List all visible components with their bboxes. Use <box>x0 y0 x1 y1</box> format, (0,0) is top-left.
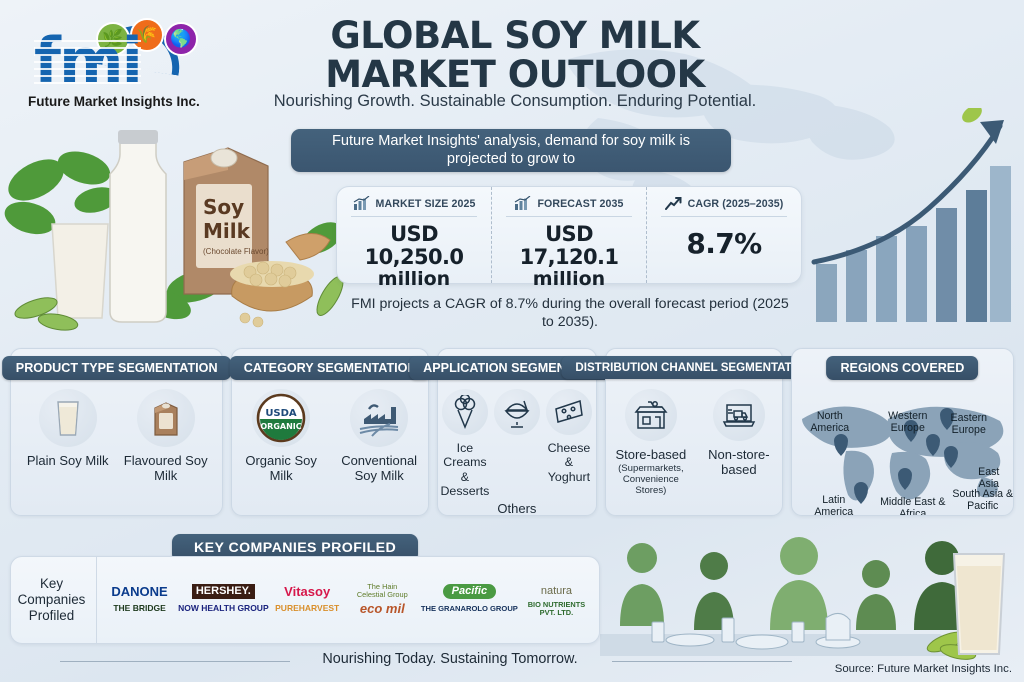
company-logo-grid: DANONE HERSHEY. Vitasoy The Hain Celesti… <box>97 580 599 620</box>
factory-farm-icon <box>350 389 408 447</box>
segment-item-others[interactable] <box>493 389 541 499</box>
growth-bar-chart-svg <box>804 108 1016 330</box>
big-glass-svg <box>948 550 1010 658</box>
segment-item-label: Organic Soy Milk <box>238 453 324 483</box>
company-logo-danone[interactable]: DANONE <box>111 585 167 598</box>
segment-title: REGIONS COVERED <box>826 356 978 380</box>
segment-item-cheese-yoghurt[interactable]: Cheese & Yoghurt <box>543 389 595 499</box>
chart-bars <box>816 166 1011 322</box>
segment-title: CATEGORY SEGMENTATION <box>230 356 431 380</box>
stat-value: USD 10,250.0 <box>343 223 485 268</box>
hero-illustration-svg: Soy Milk (Chocolate Flavor) <box>0 118 350 340</box>
stat-value: USD 17,120.1 <box>498 223 640 268</box>
segment-item-ice-creams-desserts[interactable]: Ice Creams & Desserts <box>439 389 491 499</box>
key-metrics-card: MARKET SIZE 2025 USD 10,250.0 million FO… <box>336 186 802 284</box>
company-logo-hain-celestial[interactable]: The Hain Celestial Group <box>352 583 412 599</box>
svg-text:Milk: Milk <box>203 219 251 243</box>
segment-distribution-channel: DISTRIBUTION CHANNEL SEGMENTATION Store-… <box>605 348 783 516</box>
page-title: GLOBAL SOY MILK MARKET OUTLOOK <box>270 16 760 94</box>
milk-carton-icon <box>137 389 195 447</box>
region-label-latin-america: Latin America <box>806 495 862 516</box>
page-subtitle: Nourishing Growth. Sustainable Consumpti… <box>230 92 800 111</box>
logo-tagline: Future Market Insights Inc. <box>28 94 200 109</box>
segment-item-label: Non-store-based <box>698 447 780 477</box>
company-logo-now-health-group[interactable]: NOW HEALTH GROUP <box>178 604 269 613</box>
footer-divider-left <box>60 661 290 662</box>
segment-item-conventional-soy-milk[interactable]: Conventional Soy Milk <box>336 389 422 483</box>
source-note: Source: Future Market Insights Inc. <box>835 663 1012 675</box>
segment-extra-label: Others <box>438 501 596 516</box>
segment-item-sublabel: (Supermarkets, Convenience Stores) <box>608 463 694 496</box>
infographic-page: 🌿 🌾 🌎 fmi Future Market Insights Inc. GL… <box>0 0 1024 682</box>
region-label-western-europe: Western Europe <box>880 411 936 435</box>
segment-title: DISTRIBUTION CHANNEL SEGMENTATION <box>561 356 826 379</box>
stat-unit: million <box>498 268 640 290</box>
segment-title: PRODUCT TYPE SEGMENTATION <box>2 356 232 380</box>
company-logo-granarolo[interactable]: THE GRANAROLO GROUP <box>421 605 518 613</box>
milk-glass-icon <box>39 389 97 447</box>
footer-divider-right <box>612 661 792 662</box>
bar-chart-icon <box>353 196 370 211</box>
globe-icon: 🌎 <box>164 22 198 56</box>
stat-forecast: FORECAST 2035 USD 17,120.1 million <box>491 187 646 283</box>
ice-cream-cone-icon <box>442 389 488 435</box>
stat-unit: million <box>343 268 485 290</box>
page-title-line2: MARKET OUTLOOK <box>270 55 760 94</box>
company-logo-vitasoy[interactable]: Vitasoy <box>284 585 330 598</box>
segment-item-label: Store-based <box>608 447 694 462</box>
segment-category: CATEGORY SEGMENTATION USDA ORGANIC Organ… <box>231 348 429 516</box>
footer-tagline: Nourishing Today. Sustaining Tomorrow. <box>300 651 600 667</box>
company-logo-pacific-foods[interactable]: Pacific <box>443 584 496 599</box>
segment-item-organic-soy-milk[interactable]: USDA ORGANIC Organic Soy Milk <box>238 389 324 483</box>
segment-item-store-based[interactable]: Store-based (Supermarkets, Convenience S… <box>608 389 694 496</box>
fmi-logo: 🌿 🌾 🌎 fmi Future Market Insights Inc. <box>26 10 216 110</box>
growth-chart-illustration <box>804 108 1016 330</box>
key-companies-left-label: Key Companies Profiled <box>11 557 97 643</box>
cheese-wedge-icon <box>546 389 592 435</box>
segment-item-label: Cheese & Yoghurt <box>543 441 595 484</box>
soy-milk-glass-illustration <box>948 550 1010 658</box>
segment-item-label: Ice Creams & Desserts <box>439 441 491 499</box>
segment-regions-covered: REGIONS COVERED <box>791 348 1014 516</box>
storefront-icon <box>625 389 677 441</box>
projection-banner: Future Market Insights' analysis, demand… <box>291 129 731 172</box>
cagr-note: FMI projects a CAGR of 8.7% during the o… <box>350 295 790 332</box>
laptop-delivery-icon <box>713 389 765 441</box>
trend-arrow-icon <box>665 196 682 211</box>
stat-cagr: CAGR (2025–2035) 8.7% <box>646 187 801 283</box>
stat-market-size: MARKET SIZE 2025 USD 10,250.0 million <box>337 187 491 283</box>
bar-chart-icon <box>514 196 531 211</box>
soy-milk-product-illustration: Soy Milk (Chocolate Flavor) <box>0 118 350 340</box>
stat-label: CAGR (2025–2035) <box>688 198 784 210</box>
segment-item-plain-soy-milk[interactable]: Plain Soy Milk <box>25 389 111 483</box>
milk-bottle <box>110 140 166 322</box>
segment-product-type: PRODUCT TYPE SEGMENTATION Plain Soy Milk <box>10 348 223 516</box>
stat-value: 8.7% <box>653 223 795 259</box>
region-label-eastern-europe: Eastern Europe <box>942 413 996 437</box>
dessert-bowl-icon <box>494 389 540 435</box>
svg-text:USDA: USDA <box>265 408 297 419</box>
company-logo-hershey[interactable]: HERSHEY. <box>192 584 255 599</box>
milk-glass <box>52 224 108 318</box>
region-label-north-america: North America <box>800 411 860 435</box>
segment-item-label: Conventional Soy Milk <box>336 453 422 483</box>
company-logo-bio-nutrients[interactable]: BIO NUTRIENTS PVT. LTD. <box>525 601 587 617</box>
company-logo-the-bridge[interactable]: THE BRIDGE <box>113 604 165 613</box>
region-label-south-asia-pacific: South Asia & Pacific <box>952 489 1014 513</box>
segment-item-non-store-based[interactable]: Non-store-based <box>698 389 780 496</box>
stat-label: MARKET SIZE 2025 <box>376 198 476 210</box>
usda-organic-seal-icon: USDA ORGANIC <box>252 389 310 447</box>
svg-text:(Chocolate Flavor): (Chocolate Flavor) <box>203 247 269 256</box>
svg-text:ORGANIC: ORGANIC <box>261 422 302 431</box>
company-logo-ecomil[interactable]: eco mil <box>360 602 405 615</box>
svg-text:Soy: Soy <box>203 195 244 219</box>
stat-label: FORECAST 2035 <box>537 198 623 210</box>
segment-item-flavoured-soy-milk[interactable]: Flavoured Soy Milk <box>123 389 209 483</box>
key-companies-card: Key Companies Profiled DANONE HERSHEY. V… <box>10 556 600 644</box>
segment-item-label: Plain Soy Milk <box>25 453 111 468</box>
company-logo-natura[interactable]: natura <box>541 586 572 597</box>
region-label-middle-east-africa: Middle East & Africa <box>878 497 948 516</box>
page-title-line1: GLOBAL SOY MILK <box>270 16 760 55</box>
company-logo-pureharvest[interactable]: PUREHARVEST <box>275 604 339 613</box>
segmentation-row: PRODUCT TYPE SEGMENTATION Plain Soy Milk <box>10 348 1014 516</box>
logo-wordmark: fmi <box>34 30 141 92</box>
segment-item-label: Flavoured Soy Milk <box>123 453 209 483</box>
